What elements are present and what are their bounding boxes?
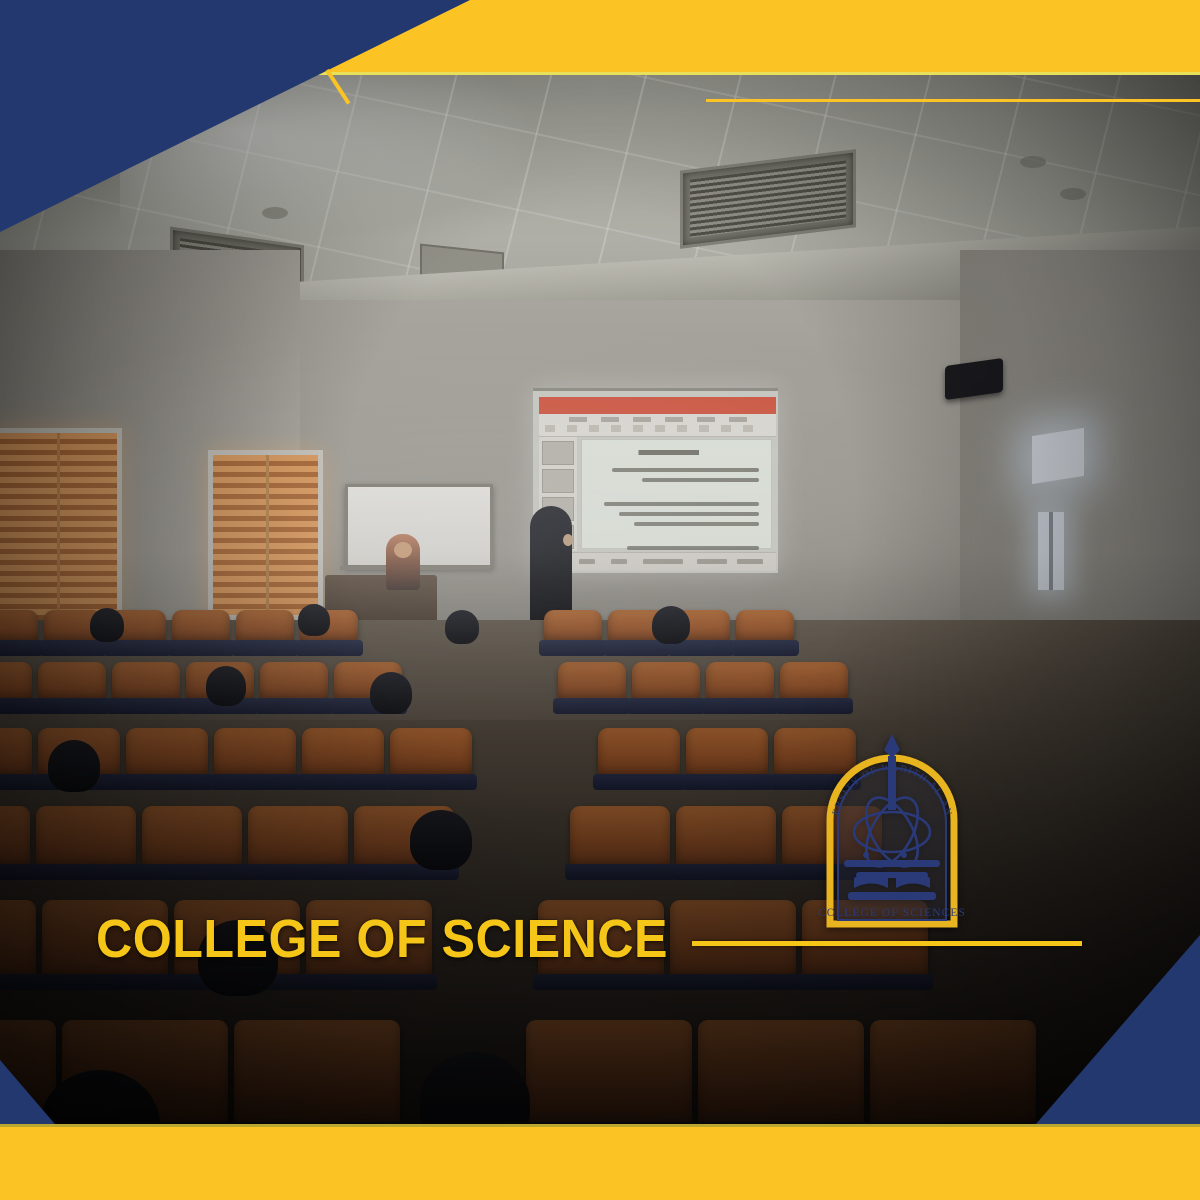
- top-thin-yellow-rule: [706, 99, 1200, 102]
- title-underline-rule: [692, 941, 1082, 946]
- page-title: COLLEGE OF SCIENCE: [96, 908, 668, 970]
- bottom-yellow-band: [0, 1127, 1200, 1200]
- logo-bottom-text: COLLEGE OF SCIENCES: [818, 907, 966, 919]
- event-photo: [0, 0, 1200, 1200]
- university-logo: UNIVERSITY OF WARITH AL-ANBIYA COLLEGE O…: [808, 728, 976, 936]
- lecture-hall-scene: [0, 0, 1200, 1200]
- photo-vignette: [0, 0, 1200, 1200]
- poster-canvas: COLLEGE OF SCIENCE: [0, 0, 1200, 1200]
- logo-finial-icon: [884, 734, 900, 758]
